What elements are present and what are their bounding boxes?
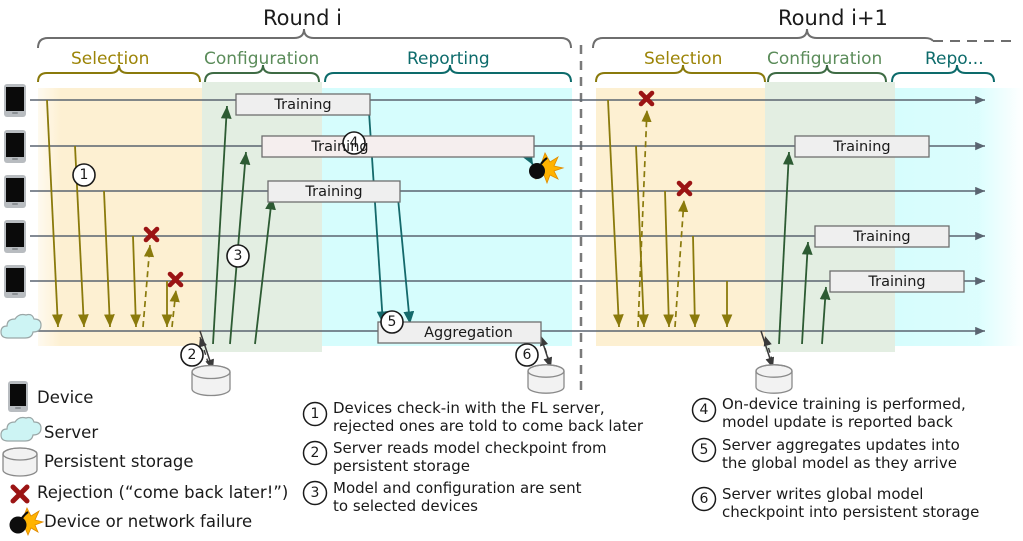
note-line: Server writes global model — [722, 486, 979, 504]
figure-canvas: Round i Round i+1 Selection Configuratio… — [0, 0, 1023, 541]
round-braces — [38, 29, 1014, 48]
phone-icon — [8, 381, 28, 412]
database-icon — [528, 365, 564, 393]
brace-round-i1 — [593, 29, 933, 48]
phone-icon — [4, 130, 26, 163]
phase-bands-round-i1 — [596, 82, 1023, 352]
phase-label-configuration-left: Configuration — [204, 49, 319, 69]
aggregation-box-label: Aggregation — [396, 326, 541, 341]
step-number-4: 4 — [344, 133, 364, 153]
legend-label-failure: Device or network failure — [44, 512, 252, 531]
note-text-5: Server aggregates updates into the globa… — [722, 437, 960, 472]
round-title-right: Round i+1 — [778, 6, 888, 30]
phase-label-reporting-left: Reporting — [407, 49, 490, 69]
step-number-3: 3 — [228, 246, 248, 266]
legend-label-persistent-storage: Persistent storage — [44, 452, 194, 471]
legend-label-device: Device — [37, 388, 93, 407]
note-number-6: 6 — [694, 489, 714, 509]
phase-label-configuration-right: Configuration — [767, 49, 882, 69]
phone-icon — [4, 220, 26, 253]
note-line: persistent storage — [333, 458, 607, 476]
note-text-1: Devices check-in with the FL server, rej… — [333, 400, 643, 435]
note-line: On-device training is performed, — [722, 396, 966, 414]
phase-label-selection-right: Selection — [644, 49, 722, 69]
note-line: Devices check-in with the FL server, — [333, 400, 643, 418]
database-icon — [756, 365, 792, 393]
note-line: the global model as they arrive — [722, 455, 960, 473]
cloud-icon — [1, 418, 41, 442]
training-box-label: Training — [815, 230, 949, 245]
band-selection-left — [38, 88, 202, 346]
note-number-2: 2 — [305, 443, 325, 463]
phase-bands-round-i — [38, 82, 572, 352]
note-line: to selected devices — [333, 498, 582, 516]
phase-label-selection-left: Selection — [71, 49, 149, 69]
note-number-5: 5 — [694, 440, 714, 460]
cloud-icon — [1, 315, 41, 339]
note-text-2: Server reads model checkpoint from persi… — [333, 440, 607, 475]
note-line: model update is reported back — [722, 414, 966, 432]
note-number-3: 3 — [305, 483, 325, 503]
note-line: Model and configuration are sent — [333, 480, 582, 498]
cross-icon — [13, 487, 27, 501]
step-number-6: 6 — [517, 345, 537, 365]
training-box-label: Training — [795, 140, 929, 155]
band-reporting-right — [895, 88, 1023, 346]
training-box-label: Training — [268, 185, 400, 200]
phone-icon — [4, 84, 26, 117]
phone-icon — [4, 175, 26, 208]
database-icon — [3, 448, 37, 476]
note-line: checkpoint into persistent storage — [722, 504, 979, 522]
database-icon — [192, 366, 230, 396]
note-text-4: On-device training is performed, model u… — [722, 396, 966, 431]
note-number-1: 1 — [305, 404, 325, 424]
legend-label-rejection: Rejection (“come back later!”) — [37, 483, 288, 502]
phase-label-reporting-right: Repo... — [925, 49, 984, 69]
band-selection-right — [596, 88, 765, 346]
training-box-label: Training — [236, 98, 370, 113]
note-line: Server reads model checkpoint from — [333, 440, 607, 458]
step-number-2: 2 — [182, 345, 202, 365]
bomb-icon — [10, 508, 44, 535]
band-configuration-right — [765, 82, 895, 352]
phone-icon — [4, 265, 26, 298]
training-box-label: Training — [262, 140, 418, 155]
legend-label-server: Server — [44, 423, 98, 442]
step-number-5: 5 — [382, 312, 402, 332]
note-line: rejected ones are told to come back late… — [333, 418, 643, 436]
brace-round-i — [38, 29, 571, 48]
note-text-3: Model and configuration are sent to sele… — [333, 480, 582, 515]
device-icons-column — [1, 84, 41, 338]
training-box-label: Training — [830, 275, 964, 290]
note-line: Server aggregates updates into — [722, 437, 960, 455]
note-text-6: Server writes global model checkpoint in… — [722, 486, 979, 521]
band-reporting-left — [322, 88, 572, 346]
step-number-1: 1 — [74, 165, 94, 185]
round-title-left: Round i — [263, 6, 342, 30]
note-number-4: 4 — [694, 400, 714, 420]
